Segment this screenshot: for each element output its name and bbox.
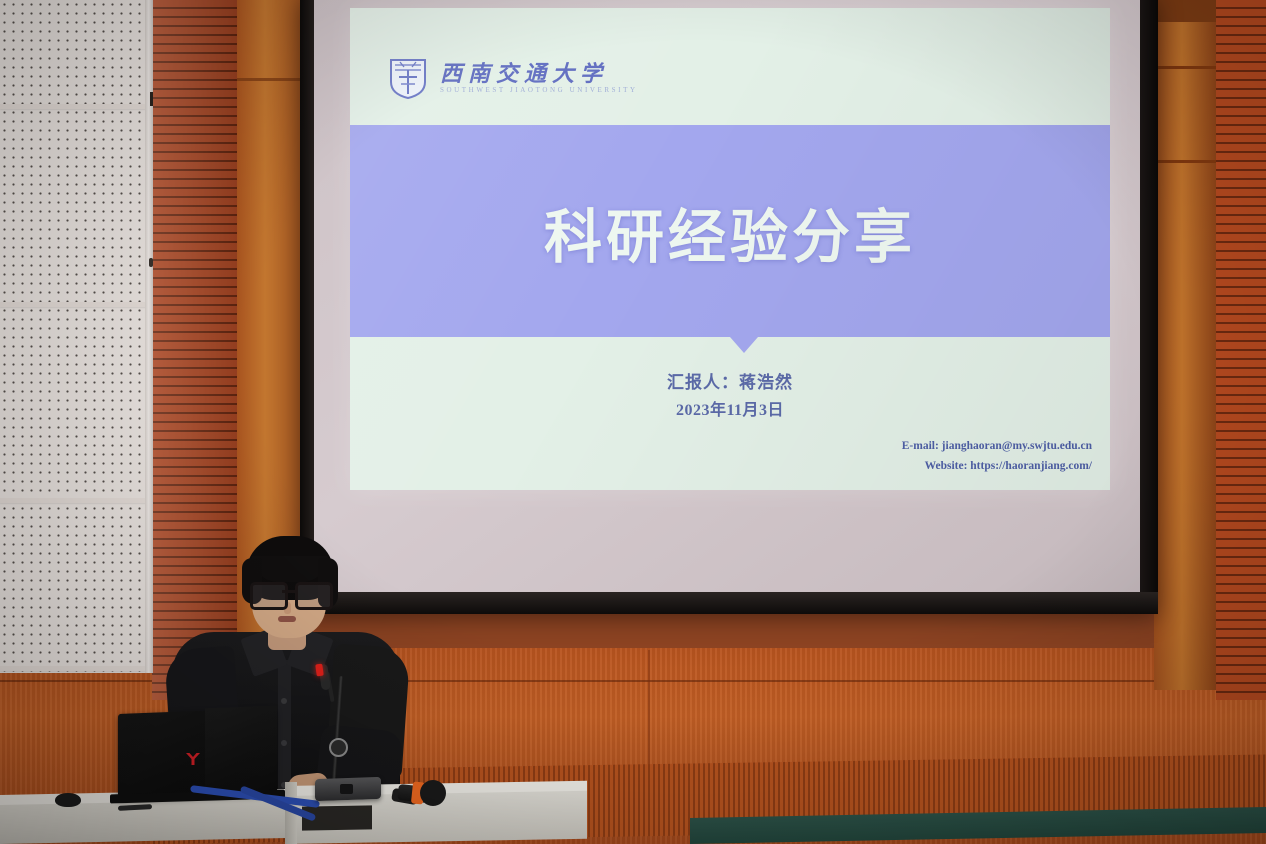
panel-clip-icon — [149, 258, 153, 267]
panel-bracket-icon — [150, 92, 153, 106]
screen-frame-right — [1140, 0, 1158, 598]
slide-contact-block: E-mail: jianghaoran@my.swjtu.edu.cn Webs… — [902, 436, 1092, 476]
slide-presenter: 汇报人：蒋浩然 — [350, 368, 1110, 393]
wood-pillar-right — [1154, 0, 1216, 690]
screen-bottom-bar — [300, 592, 1158, 614]
pillar-seam-right-1 — [1154, 66, 1216, 69]
university-logo-text: 西南交通大学 SOUTHWEST JIAOTONG UNIVERSITY — [440, 63, 638, 94]
pillar-seam-left — [237, 78, 307, 81]
mic-status-led-icon — [315, 664, 324, 677]
presentation-slide: 西南交通大学 SOUTHWEST JIAOTONG UNIVERSITY 科研经… — [350, 8, 1110, 490]
pillar-top-recess — [1154, 0, 1216, 22]
wood-slat-wall-right — [1216, 0, 1266, 700]
swjtu-shield-icon — [388, 56, 428, 100]
screen-frame-left — [300, 0, 314, 598]
laptop-lid-right-section[interactable] — [205, 706, 277, 795]
university-name-cn: 西南交通大学 — [440, 63, 638, 85]
slide-band-notch — [730, 337, 758, 353]
wood-wall-vertical-seam — [648, 650, 650, 780]
eyeglass-bridge — [282, 590, 295, 593]
slide-website: Website: https://haoranjiang.com/ — [902, 456, 1092, 476]
gooseneck-mic-ring — [329, 738, 348, 757]
acoustic-panel-seam-2 — [0, 302, 152, 307]
slide-date: 2023年11月3日 — [350, 396, 1110, 420]
presenter-mouth — [278, 616, 296, 622]
lecture-hall-photo: 西南交通大学 SOUTHWEST JIAOTONG UNIVERSITY 科研经… — [0, 0, 1266, 844]
acoustic-panel-seam-3 — [0, 498, 152, 503]
slide-title: 科研经验分享 — [350, 190, 1110, 274]
computer-mouse[interactable] — [55, 793, 81, 807]
acoustic-panel-wall — [0, 0, 152, 673]
acoustic-panel-seam-4 — [0, 666, 152, 671]
handheld-mic-head — [420, 780, 446, 806]
university-name-en: SOUTHWEST JIAOTONG UNIVERSITY — [440, 87, 638, 94]
eyeglass-lens-left — [250, 582, 288, 610]
eyeglasses-icon — [250, 582, 330, 604]
acoustic-panel-seam-1 — [0, 104, 152, 109]
legion-y-logo-icon — [185, 752, 201, 766]
eyeglass-lens-right — [295, 582, 333, 610]
slide-email: E-mail: jianghaoran@my.swjtu.edu.cn — [902, 436, 1092, 456]
pillar-seam-right-2 — [1154, 160, 1216, 163]
mic-mute-button[interactable] — [340, 784, 353, 794]
university-logo: 西南交通大学 SOUTHWEST JIAOTONG UNIVERSITY — [388, 56, 638, 100]
shirt-button — [281, 698, 287, 704]
shirt-button — [281, 740, 287, 746]
acoustic-perforation-texture — [0, 0, 152, 673]
